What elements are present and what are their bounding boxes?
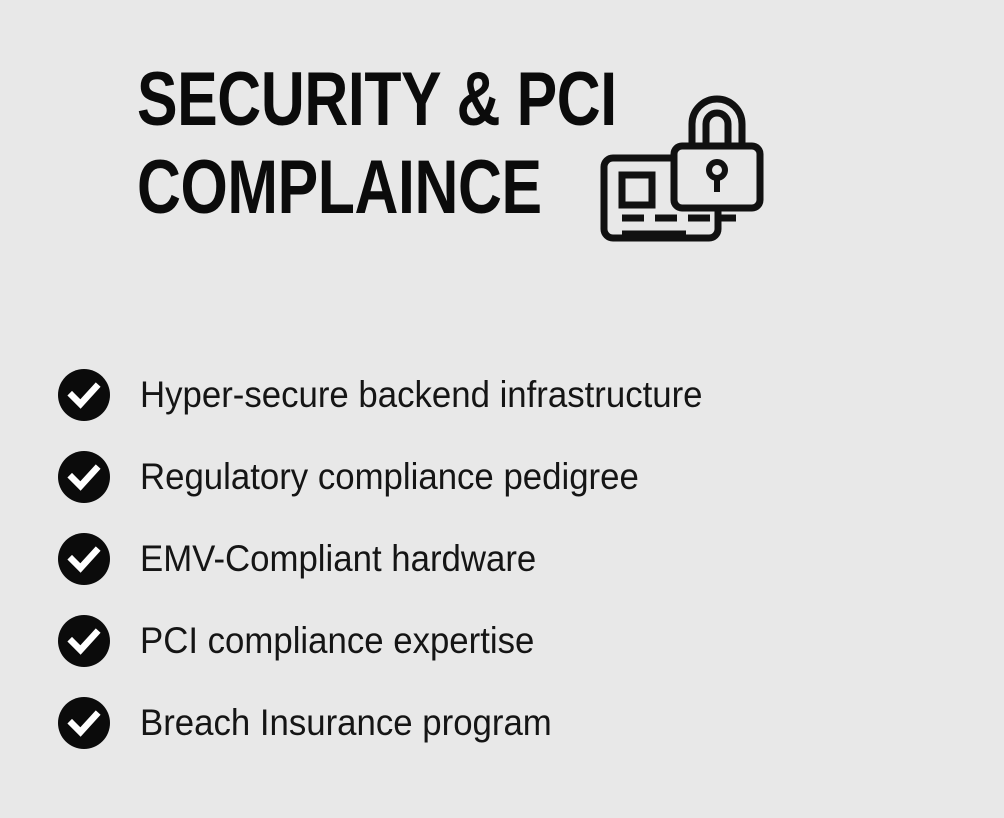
- check-circle-icon: [58, 369, 110, 421]
- check-circle-icon: [58, 697, 110, 749]
- list-item-label: Hyper-secure backend infrastructure: [140, 373, 703, 417]
- list-item-label: Breach Insurance program: [140, 701, 552, 745]
- feature-list: Hyper-secure backend infrastructure Regu…: [58, 368, 958, 750]
- check-circle-icon: [58, 615, 110, 667]
- page-title-line-2: COMPLAINCE: [137, 144, 505, 232]
- check-circle-icon: [58, 451, 110, 503]
- credit-card-lock-icon: [598, 82, 768, 248]
- list-item: PCI compliance expertise: [58, 614, 958, 668]
- page-title: SECURITY & PCI COMPLAINCE: [137, 56, 597, 232]
- list-item: Regulatory compliance pedigree: [58, 450, 958, 504]
- page-title-line-1: SECURITY & PCI: [137, 56, 505, 144]
- check-circle-icon: [58, 533, 110, 585]
- list-item-label: Regulatory compliance pedigree: [140, 455, 639, 499]
- list-item: EMV-Compliant hardware: [58, 532, 958, 586]
- list-item-label: PCI compliance expertise: [140, 619, 534, 663]
- list-item: Hyper-secure backend infrastructure: [58, 368, 958, 422]
- list-item: Breach Insurance program: [58, 696, 958, 750]
- slide-header: SECURITY & PCI COMPLAINCE: [0, 0, 1004, 270]
- list-item-label: EMV-Compliant hardware: [140, 537, 536, 581]
- slide-canvas: SECURITY & PCI COMPLAINCE: [0, 0, 1004, 818]
